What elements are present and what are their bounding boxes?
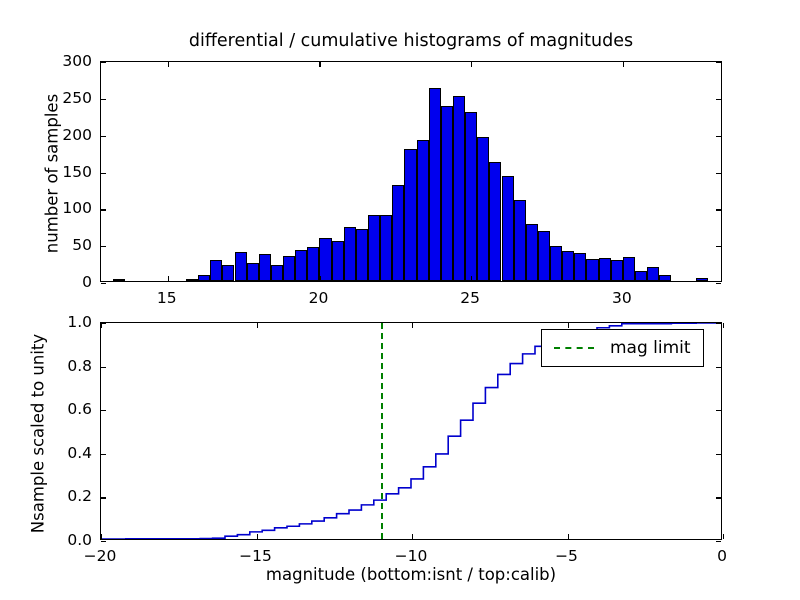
chart-title: differential / cumulative histograms of …	[100, 31, 722, 51]
top-panel-y-tick-label: 300	[34, 52, 92, 70]
bottom-panel-x-tick	[723, 323, 724, 328]
histogram-bar	[623, 257, 635, 281]
top-panel-y-tick	[101, 99, 106, 100]
top-panel-y-tick	[101, 209, 106, 210]
top-panel-y-tick	[716, 283, 721, 284]
mag-limit-vline	[381, 323, 383, 539]
histogram-bar	[332, 241, 344, 281]
top-panel-x-tick	[471, 62, 472, 67]
histogram-bar	[210, 260, 222, 281]
histogram-bar	[380, 215, 392, 281]
bottom-panel-y-tick	[716, 541, 721, 542]
top-panel-y-tick	[101, 173, 106, 174]
histogram-bar	[550, 246, 562, 281]
bottom-panel-y-tick	[101, 367, 106, 368]
top-panel-y-tick	[101, 136, 106, 137]
histogram-bar	[586, 259, 598, 281]
top-panel-y-tick-label: 100	[34, 199, 92, 217]
bottom-panel-y-tick	[101, 454, 106, 455]
histogram-bar	[295, 250, 307, 281]
bottom-panel-y-tick	[101, 410, 106, 411]
histogram-bar	[235, 252, 247, 281]
histogram-bar	[186, 279, 198, 281]
histogram-bar	[307, 247, 319, 281]
histogram-bar	[489, 162, 501, 281]
bottom-panel-y-tick	[716, 367, 721, 368]
bottom-panel-x-tick	[257, 534, 258, 539]
bottom-panel-x-tick-label: −10	[395, 547, 428, 565]
histogram-bar	[514, 200, 526, 281]
top-panel-y-tick	[101, 62, 106, 63]
top-panel-y-tick	[716, 136, 721, 137]
bottom-panel-x-tick-label: −15	[239, 547, 272, 565]
histogram-bar	[453, 96, 465, 281]
bottom-panel-x-tick	[412, 534, 413, 539]
top-panel-y-tick	[716, 62, 721, 63]
histogram-bar	[368, 215, 380, 281]
bottom-panel-y-tick-label: 0.2	[34, 487, 92, 505]
bottom-panel-x-tick	[568, 323, 569, 328]
histogram-bar	[465, 112, 477, 281]
histogram-bar	[574, 253, 586, 281]
top-panel-x-tick	[623, 276, 624, 281]
top-panel-y-tick-label: 0	[34, 273, 92, 291]
histogram-bar	[392, 185, 404, 282]
top-panel-y-tick	[716, 99, 721, 100]
bottom-panel-y-tick-label: 1.0	[34, 313, 92, 331]
histogram-bar	[647, 267, 659, 281]
histogram-bar	[222, 265, 234, 281]
top-panel-x-tick	[319, 276, 320, 281]
top-panel-x-tick-label: 20	[309, 289, 329, 307]
histogram-bar	[198, 275, 210, 281]
top-panel-y-tick-label: 50	[34, 236, 92, 254]
bottom-panel-y-tick	[101, 541, 106, 542]
bottom-panel-y-tick	[101, 497, 106, 498]
histogram-bar	[611, 260, 623, 281]
histogram-bar	[562, 251, 574, 281]
histogram-plot-surface	[101, 62, 721, 281]
top-panel-x-tick-label: 25	[460, 289, 480, 307]
bottom-panel-y-tick	[101, 323, 106, 324]
top-panel-y-tick	[716, 173, 721, 174]
bottom-panel-x-tick-label: −20	[84, 547, 117, 565]
bottom-panel-y-tick-label: 0.8	[34, 357, 92, 375]
bottom-panel-ylabel: Nsample scaled to unity	[29, 319, 48, 549]
histogram-bar	[526, 224, 538, 281]
bottom-panel-y-tick	[716, 323, 721, 324]
histogram-bar	[696, 278, 708, 281]
histogram-bar	[659, 275, 671, 281]
bottom-panel-x-tick	[257, 323, 258, 328]
histogram-bar	[271, 265, 283, 281]
bottom-panel-x-tick	[568, 534, 569, 539]
histogram-bar	[319, 238, 331, 281]
top-panel-x-tick	[168, 62, 169, 67]
legend-box[interactable]: mag limit	[541, 329, 704, 367]
bottom-panel-y-tick-label: 0.6	[34, 400, 92, 418]
top-panel-x-tick-label: 30	[612, 289, 632, 307]
top-panel-x-tick	[168, 276, 169, 281]
histogram-bar	[259, 254, 271, 281]
mag-limit-dashed-line-icon	[554, 347, 594, 349]
bottom-panel-x-tick-label: −5	[555, 547, 578, 565]
bottom-panel-y-tick	[716, 410, 721, 411]
bottom-panel-y-tick-label: 0.4	[34, 444, 92, 462]
histogram-bar	[635, 271, 647, 281]
top-panel-y-tick	[101, 283, 106, 284]
top-panel-x-tick	[623, 62, 624, 67]
histogram-bar	[599, 258, 611, 281]
top-panel-axes	[100, 61, 722, 282]
bottom-panel-x-tick-label: 0	[717, 547, 727, 565]
bottom-panel-x-tick	[101, 534, 102, 539]
top-panel-y-tick-label: 150	[34, 163, 92, 181]
histogram-bar	[441, 106, 453, 281]
bottom-panel-x-tick	[723, 534, 724, 539]
histogram-bar	[404, 149, 416, 281]
histogram-bar	[538, 231, 550, 281]
bottom-panel-y-tick	[716, 497, 721, 498]
top-panel-y-tick-label: 250	[34, 89, 92, 107]
top-panel-y-tick-label: 200	[34, 126, 92, 144]
histogram-bar	[113, 279, 125, 281]
top-panel-y-tick	[101, 246, 106, 247]
bottom-panel-x-tick	[412, 323, 413, 328]
top-panel-x-tick	[471, 276, 472, 281]
histogram-bar	[344, 227, 356, 282]
top-panel-y-tick	[716, 246, 721, 247]
histogram-bar	[429, 88, 441, 281]
bottom-panel-y-tick-label: 0.0	[34, 531, 92, 549]
histogram-bar	[502, 176, 514, 281]
top-panel-y-tick	[716, 209, 721, 210]
histogram-bar	[417, 140, 429, 281]
histogram-bar	[247, 263, 259, 281]
figure-canvas: differential / cumulative histograms of …	[0, 0, 800, 600]
x-axis-label: magnitude (bottom:isnt / top:calib)	[100, 565, 722, 584]
histogram-bar	[283, 256, 295, 281]
top-panel-x-tick	[319, 62, 320, 67]
histogram-bar	[477, 137, 489, 281]
histogram-bar	[356, 229, 368, 281]
top-panel-x-tick-label: 15	[157, 289, 177, 307]
legend-entry-label: mag limit	[610, 338, 691, 358]
bottom-panel-y-tick	[716, 454, 721, 455]
